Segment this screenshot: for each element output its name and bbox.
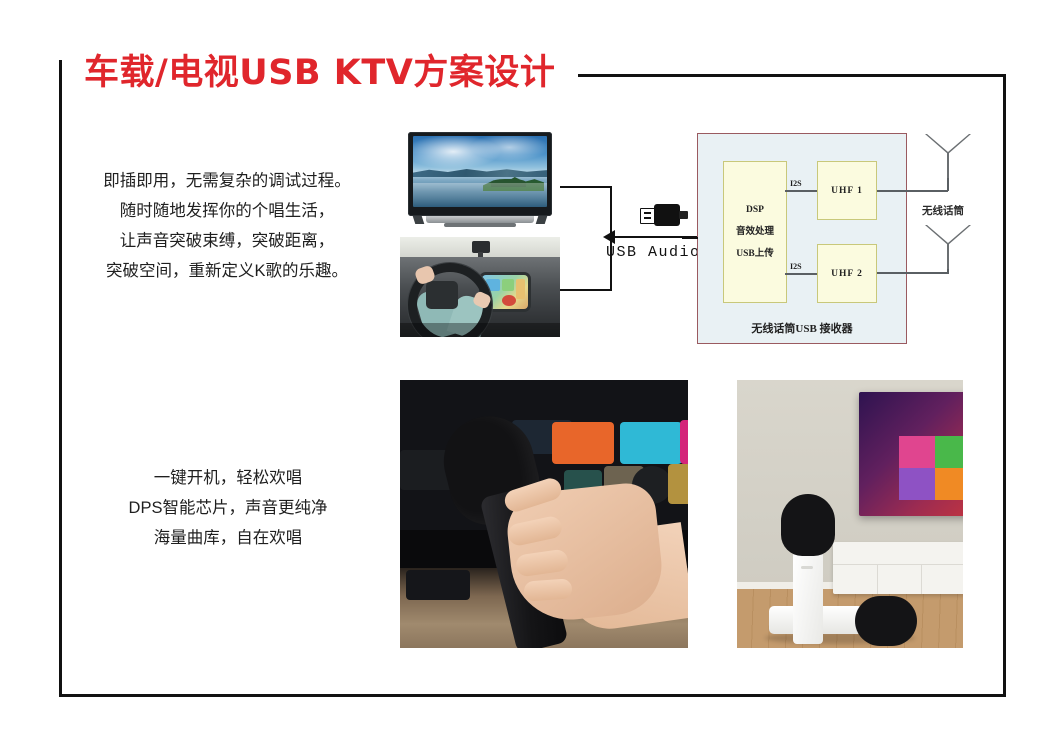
usb-audio-label: USB Audio xyxy=(606,244,701,261)
tv-leg-left xyxy=(413,216,425,224)
features-paragraph: 一键开机，轻松欢唱 DPS智能芯片，声音更纯净 海量曲库，自在欢唱 xyxy=(78,463,378,553)
dsp-block: DSP 音效处理 USB上传 xyxy=(723,161,787,303)
car-screen-tile-4 xyxy=(502,295,516,306)
tv-photo xyxy=(400,128,560,233)
connector-line-car xyxy=(560,289,612,291)
tv-wallpaper-water xyxy=(413,183,547,207)
antenna-lead-1 xyxy=(877,190,948,192)
car-interior-photo xyxy=(400,237,560,337)
microphone-1-buttons xyxy=(801,566,813,569)
frame-border-left xyxy=(59,60,62,697)
usb-pin-1 xyxy=(644,212,651,214)
tv-bezel xyxy=(408,132,552,216)
microphone-2-foam-head xyxy=(855,596,917,646)
car-screen-tile-2 xyxy=(502,279,514,291)
tv-screen xyxy=(413,136,547,207)
tv-tile-purple xyxy=(899,468,935,500)
tv-wallpaper-mountains xyxy=(413,166,547,177)
connector-line-tv xyxy=(560,186,612,188)
feature-line-2: DPS智能芯片，声音更纯净 xyxy=(78,493,378,523)
uhf2-block: UHF 2 xyxy=(817,244,877,303)
tv-tile-orange xyxy=(935,468,963,500)
dashboard-vent xyxy=(406,570,470,600)
i2s-bus-label-1: I2S xyxy=(790,179,802,188)
frame-border-right xyxy=(1003,76,1006,697)
living-room-photo xyxy=(737,380,963,648)
feature-line-1: 一键开机，轻松欢唱 xyxy=(78,463,378,493)
cabinet-divider-1 xyxy=(877,564,878,594)
uhf2-label: UHF 2 xyxy=(831,269,863,279)
intro-line-2: 随时随地发挥你的个唱生活， xyxy=(72,196,382,226)
i2s-bus-line-2 xyxy=(785,273,817,275)
i2s-bus-line-1 xyxy=(785,190,817,192)
uhf1-label: UHF 1 xyxy=(831,186,863,196)
intro-line-3: 让声音突破束缚，突破距离， xyxy=(72,226,382,256)
intro-line-4: 突破空间，重新定义K歌的乐趣。 xyxy=(72,256,382,286)
display-tile-pink xyxy=(680,420,688,464)
diagram-input-line xyxy=(682,237,698,239)
usb-pin-2 xyxy=(644,217,651,219)
dsp-usb-upload-label: USB上传 xyxy=(736,245,773,259)
dsp-label: DSP xyxy=(746,205,764,215)
usb-audio-arrow-icon xyxy=(603,230,615,244)
antenna-icon-1 xyxy=(925,134,971,178)
car-steering-wheel-hub xyxy=(426,281,458,309)
i2s-bus-label-2: I2S xyxy=(790,262,802,271)
antenna-lead-1-riser xyxy=(947,178,949,191)
page-title: 车载/电视USB KTV方案设计 xyxy=(84,44,555,95)
intro-paragraph: 即插即用，无需复杂的调试过程。 随时随地发挥你的个唱生活， 让声音突破束缚，突破… xyxy=(72,166,382,286)
wireless-mic-label: 无线话筒 xyxy=(922,203,964,218)
antenna-lead-2-riser xyxy=(947,269,949,274)
tv-tile-pink xyxy=(899,436,935,468)
tv-cabinet xyxy=(833,542,963,594)
tv-tile-green xyxy=(935,436,963,468)
wall-mounted-tv xyxy=(859,392,963,516)
car-rearview-mirror xyxy=(472,241,490,253)
antenna-2-triangle-inner xyxy=(927,225,969,243)
usb-cable-tail xyxy=(679,211,688,219)
microphone-1-foam-head xyxy=(781,494,835,556)
diagram-caption: 无线话筒USB 接收器 xyxy=(698,320,906,336)
intro-line-1: 即插即用，无需复杂的调试过程。 xyxy=(72,166,382,196)
dsp-audio-processing-label: 音效处理 xyxy=(736,223,774,237)
antenna-icon-2 xyxy=(925,225,971,269)
receiver-block-diagram: DSP 音效处理 USB上传 I2S I2S UHF 1 UHF 2 无线话筒U… xyxy=(697,133,907,344)
display-tile-cyan xyxy=(620,422,682,464)
usb-plug-shell xyxy=(654,204,680,226)
cabinet-seam xyxy=(833,564,963,565)
tv-stand-base xyxy=(444,223,516,227)
uhf1-block: UHF 1 xyxy=(817,161,877,220)
title-underline-rule xyxy=(578,74,1006,77)
car-screen-tile-3 xyxy=(516,279,525,299)
finger-4 xyxy=(523,578,572,601)
antenna-2-stem xyxy=(947,243,949,269)
antenna-1-triangle-inner xyxy=(927,134,969,152)
tv-stand xyxy=(426,216,534,223)
display-tile-orange xyxy=(552,422,614,464)
car-photo-foreground-shadow xyxy=(400,323,560,337)
antenna-1-stem xyxy=(947,152,949,178)
usb-connector-icon xyxy=(640,204,688,226)
display-tile-thumb-4 xyxy=(668,464,688,504)
microphone-in-car-photo xyxy=(400,380,688,648)
cabinet-divider-2 xyxy=(921,564,922,594)
antenna-lead-2 xyxy=(877,272,948,274)
tv-leg-right xyxy=(536,216,548,224)
frame-border-bottom xyxy=(59,694,1006,697)
feature-line-3: 海量曲库，自在欢唱 xyxy=(78,523,378,553)
